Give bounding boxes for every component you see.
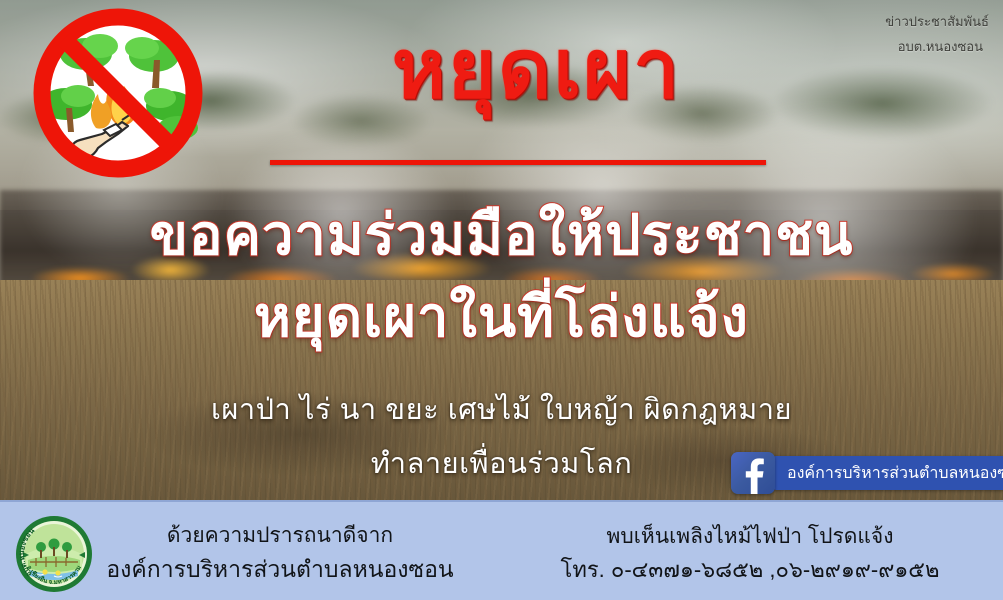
footer-bar: อบต.หนองซอน อ.เชียงยืน จ.มหาสารคาม ด้วยค…	[0, 500, 1003, 600]
facebook-page-name[interactable]: องค์การบริหารส่วนตำบลหนองซอน	[771, 456, 1003, 490]
footer-left-line-1: ด้วยความปรารถนาดีจาก	[167, 520, 393, 553]
red-divider-rule	[270, 160, 766, 165]
message-line-1: ขอความร่วมมือให้ประชาชน	[0, 190, 1003, 279]
page-title-headline: หยุดเผา	[0, 22, 1003, 119]
poster-canvas: ข่าวประชาสัมพันธ์ อบต.หนองซอน หยุดเผา ขอ…	[0, 0, 1003, 600]
municipal-seal-icon: อบต.หนองซอน อ.เชียงยืน จ.มหาสารคาม	[14, 514, 94, 594]
facebook-icon[interactable]	[731, 452, 775, 494]
footer-right-line-1: พบเห็นเพลิงไหม้ไฟป่า โปรดแจ้ง	[607, 521, 894, 554]
message-line-2: หยุดเผาในที่โล่งแจ้ง	[0, 272, 1003, 361]
footer-phone-numbers: โทร. ๐-๔๓๗๑-๖๘๕๒ ,๐๖-๒๙๑๙-๙๑๕๒	[561, 553, 940, 587]
message-line-3: เผาป่า ไร่ นา ขยะ เศษไม้ ใบหญ้า ผิดกฎหมา…	[0, 386, 1003, 432]
footer-left-block: ด้วยความปรารถนาดีจาก องค์การบริหารส่วนตำ…	[100, 514, 460, 594]
footer-left-line-2: องค์การบริหารส่วนตำบลหนองซอน	[106, 552, 453, 588]
facebook-page-badge[interactable]: องค์การบริหารส่วนตำบลหนองซอน	[731, 452, 1003, 494]
footer-right-block: พบเห็นเพลิงไหม้ไฟป่า โปรดแจ้ง โทร. ๐-๔๓๗…	[500, 514, 1000, 594]
